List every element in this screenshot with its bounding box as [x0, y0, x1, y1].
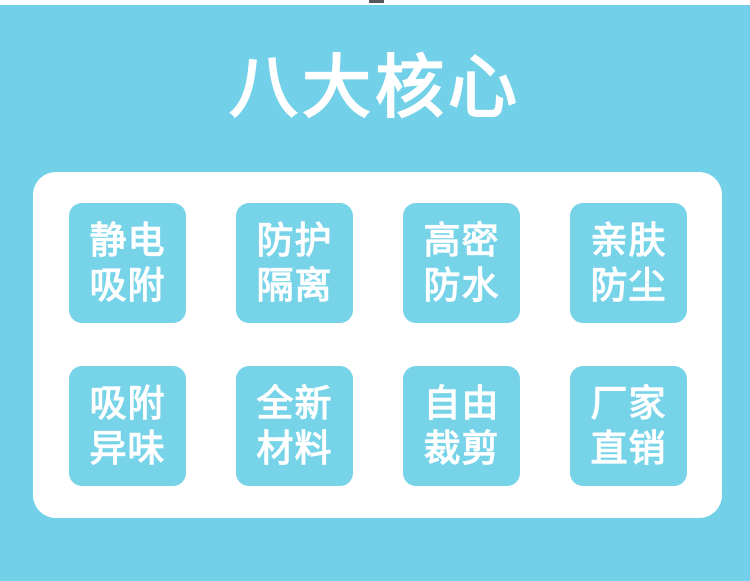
feature-card-1[interactable]: 静电 吸附 [69, 203, 186, 323]
feature-card-8[interactable]: 厂家 直销 [570, 366, 687, 486]
feature-card-7[interactable]: 自由 裁剪 [403, 366, 520, 486]
feature-card-3[interactable]: 高密 防水 [403, 203, 520, 323]
top-edge-artifact [369, 0, 384, 3]
feature-panel: 静电 吸附 防护 隔离 高密 防水 亲肤 防尘 吸附 异味 全新 材料 [33, 172, 722, 518]
feature-grid: 静电 吸附 防护 隔离 高密 防水 亲肤 防尘 吸附 异味 全新 材料 [69, 203, 689, 486]
feature-card-6[interactable]: 全新 材料 [236, 366, 353, 486]
feature-card-1-line1: 静电 [90, 218, 166, 263]
feature-card-2-line2: 隔离 [257, 263, 333, 308]
feature-card-2[interactable]: 防护 隔离 [236, 203, 353, 323]
feature-card-5-line1: 吸附 [90, 381, 166, 426]
page-title: 八大核心 [0, 42, 750, 134]
feature-card-4[interactable]: 亲肤 防尘 [570, 203, 687, 323]
feature-card-8-line1: 厂家 [591, 381, 667, 426]
feature-card-1-line2: 吸附 [90, 263, 166, 308]
promo-page: 八大核心 静电 吸附 防护 隔离 高密 防水 亲肤 防尘 吸附 异味 [0, 0, 750, 581]
feature-card-5-line2: 异味 [90, 426, 166, 471]
feature-card-6-line1: 全新 [257, 381, 333, 426]
feature-card-2-line1: 防护 [257, 218, 333, 263]
feature-card-8-line2: 直销 [591, 426, 667, 471]
feature-card-3-line1: 高密 [424, 218, 500, 263]
feature-card-7-line1: 自由 [424, 381, 500, 426]
feature-card-4-line2: 防尘 [591, 263, 667, 308]
feature-card-3-line2: 防水 [424, 263, 500, 308]
feature-card-6-line2: 材料 [257, 426, 333, 471]
feature-card-4-line1: 亲肤 [591, 218, 667, 263]
feature-card-7-line2: 裁剪 [424, 426, 500, 471]
feature-card-5[interactable]: 吸附 异味 [69, 366, 186, 486]
